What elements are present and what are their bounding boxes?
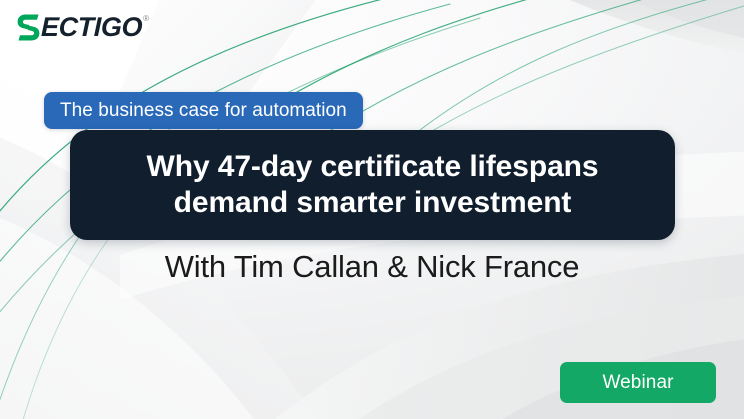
- sectigo-logo[interactable]: ECTIGO ®: [17, 13, 149, 43]
- content-type-badge[interactable]: Webinar: [560, 362, 716, 403]
- headline-line-1: Why 47-day certificate lifespans: [147, 150, 599, 183]
- content-type-label: Webinar: [602, 372, 673, 394]
- sectigo-s-mark-icon: [17, 13, 40, 42]
- presenters-line: With Tim Callan & Nick France: [0, 248, 744, 286]
- eyebrow-badge: The business case for automation: [44, 92, 363, 129]
- webinar-promo-card: ECTIGO ® The business case for automatio…: [0, 0, 744, 419]
- sectigo-wordmark: ECTIGO: [41, 13, 143, 42]
- eyebrow-label: The business case for automation: [60, 100, 347, 122]
- headline-title: Why 47-day certificate lifespans demand …: [131, 149, 615, 221]
- headline-panel: Why 47-day certificate lifespans demand …: [70, 130, 675, 240]
- registered-trademark-icon: ®: [143, 14, 149, 24]
- headline-line-2: demand smarter investment: [174, 186, 572, 219]
